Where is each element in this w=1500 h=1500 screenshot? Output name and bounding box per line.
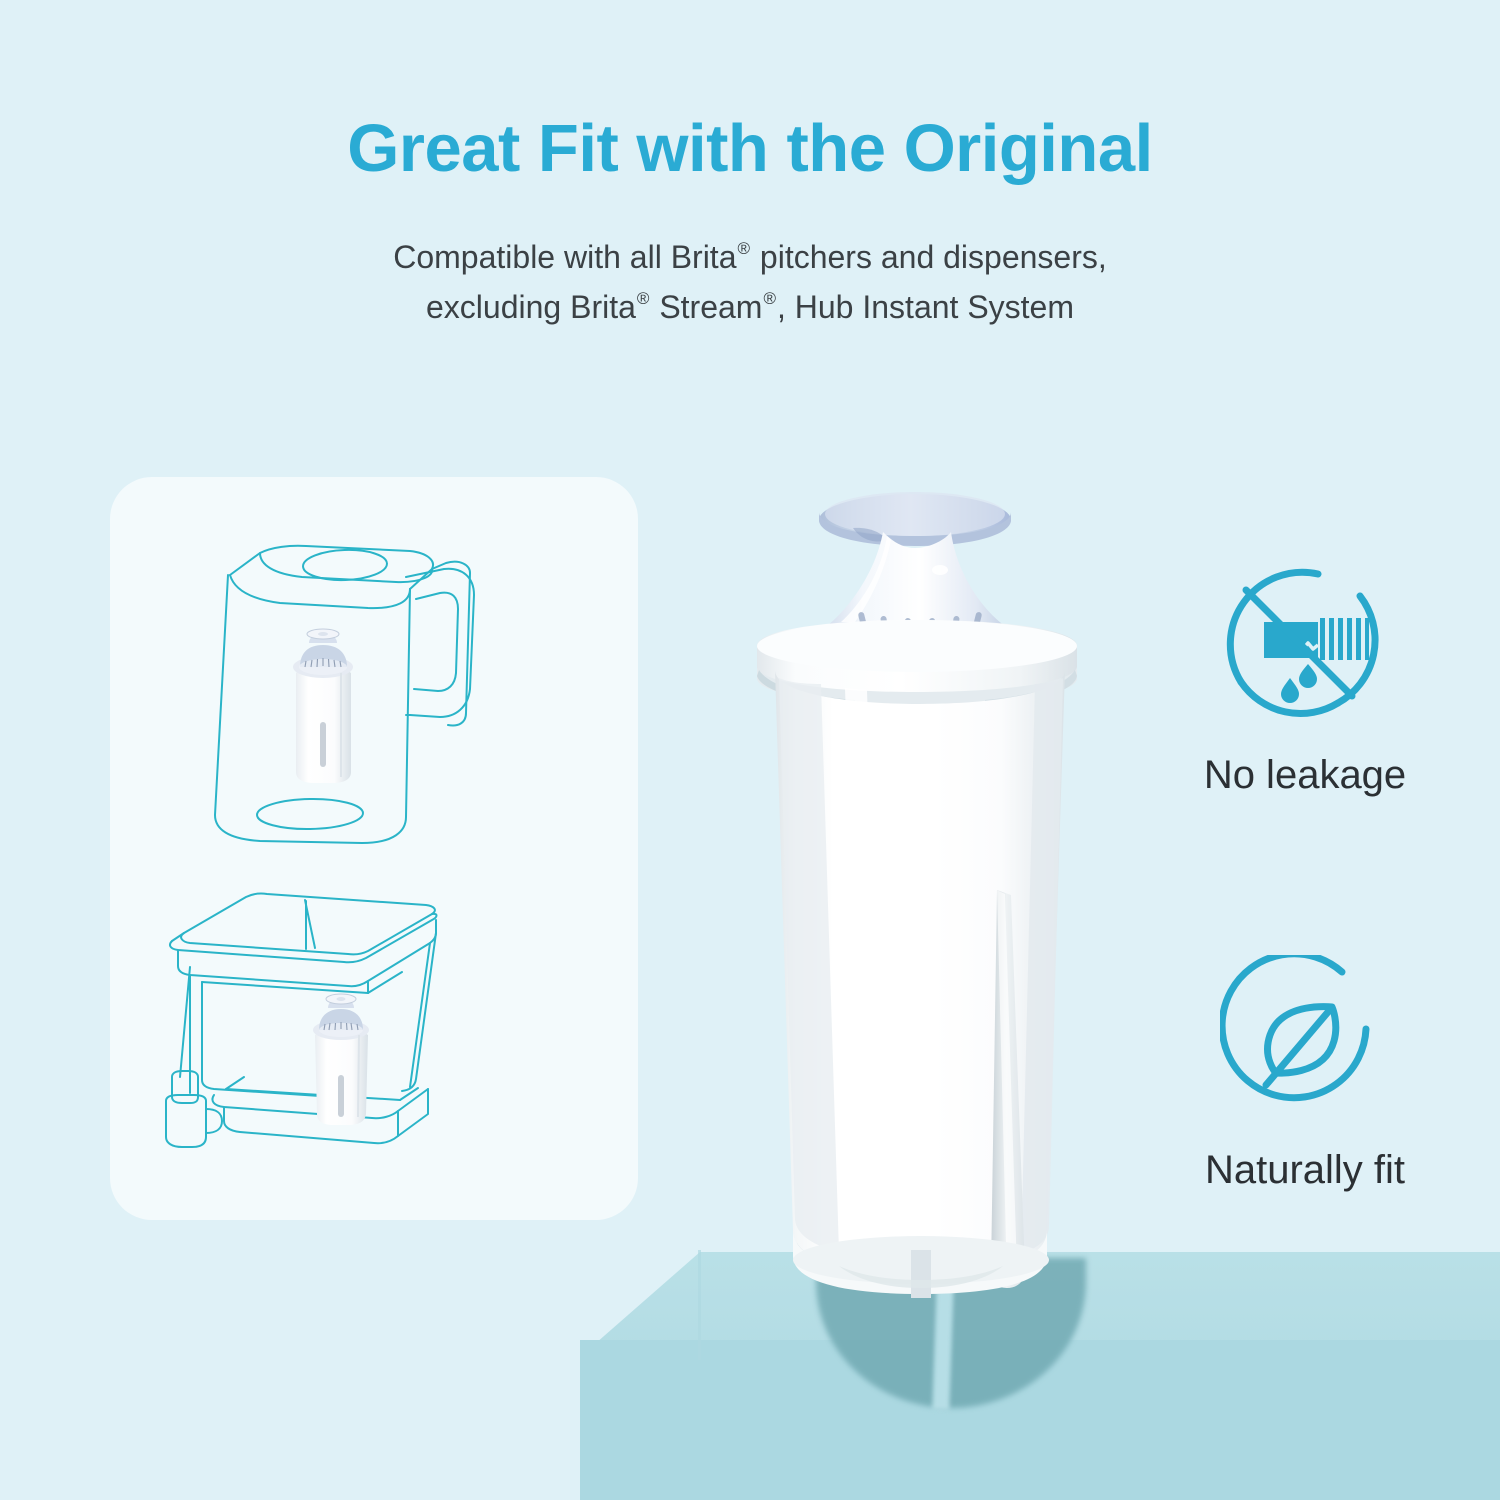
subtitle-line-2: excluding Brita® Stream®, Hub Instant Sy… <box>0 283 1500 333</box>
leaf-circle-icon <box>1125 950 1485 1130</box>
pitcher-filter-cartridge <box>293 629 353 783</box>
dispenser-filter-cartridge <box>313 994 369 1125</box>
registered-mark-icon: ® <box>736 239 751 258</box>
registered-mark-icon: ® <box>762 289 777 308</box>
feature-no-leakage-label: No leakage <box>1125 753 1485 797</box>
water-filter-product-image <box>735 470 1165 1300</box>
infographic-canvas: Great Fit with the Original Compatible w… <box>0 0 1500 1500</box>
filter-cap <box>819 492 1011 546</box>
page-subtitle: Compatible with all Brita® pitchers and … <box>0 233 1500 332</box>
no-leakage-icon <box>1125 555 1485 735</box>
subtitle-line-2-c: , Hub Instant System <box>777 289 1074 325</box>
subtitle-line-2-a: excluding Brita <box>426 289 636 325</box>
subtitle-line-1-a: Compatible with all Brita <box>393 239 736 275</box>
feature-naturally-fit-label: Naturally fit <box>1125 1148 1485 1192</box>
feature-no-leakage: No leakage <box>1125 555 1485 797</box>
filter-neck <box>827 532 1005 631</box>
registered-mark-icon: ® <box>636 289 651 308</box>
compatibility-illustration-card <box>110 477 638 1220</box>
pedestal-corner-edge <box>698 1250 701 1360</box>
subtitle-line-1: Compatible with all Brita® pitchers and … <box>0 233 1500 283</box>
dispenser-outline-drawing <box>166 894 437 1147</box>
subtitle-line-2-b: Stream <box>650 289 762 325</box>
illustration-svg-wrap <box>110 477 638 1220</box>
subtitle-line-1-b: pitchers and dispensers, <box>751 239 1107 275</box>
page-title: Great Fit with the Original <box>0 113 1500 185</box>
feature-naturally-fit: Naturally fit <box>1125 950 1485 1192</box>
